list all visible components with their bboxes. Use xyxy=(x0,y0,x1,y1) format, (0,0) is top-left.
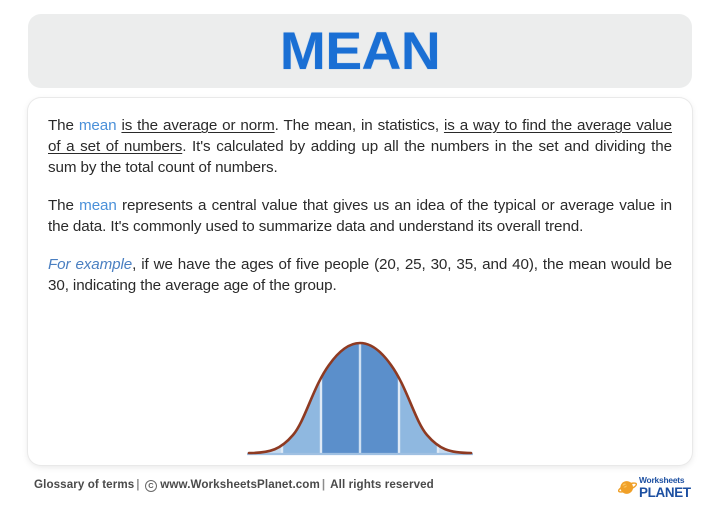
paragraph-example: For example, if we have the ages of five… xyxy=(48,254,672,296)
text-segment: The xyxy=(48,117,79,134)
example-label: For example xyxy=(48,256,132,273)
logo-bottom-word: PLANET xyxy=(639,486,691,499)
underlined-definition-a: is the average or norm xyxy=(121,117,274,134)
title-band: MEAN xyxy=(28,14,692,88)
bell-curve-figure xyxy=(28,335,692,459)
band-core-left xyxy=(321,335,360,459)
band-outer-left xyxy=(245,335,282,459)
logo-top-word: Worksheets xyxy=(639,476,691,484)
worksheets-planet-logo[interactable]: Worksheets PLANET xyxy=(618,474,704,501)
planet-icon xyxy=(618,478,637,497)
text-segment: The xyxy=(48,197,79,214)
paragraph-definition: The mean is the average or norm. The mea… xyxy=(48,115,672,178)
footer-website: www.WorksheetsPlanet.com xyxy=(160,478,320,491)
footer-separator: | xyxy=(134,478,141,491)
keyword-mean: mean xyxy=(79,117,117,134)
footer-rights: All rights reserved xyxy=(330,478,434,491)
band-core-right xyxy=(360,335,399,459)
text-segment: , if we have the ages of five people (20… xyxy=(48,256,672,294)
page-title: MEAN xyxy=(280,25,440,78)
text-segment: represents a central value that gives us… xyxy=(48,197,672,235)
footer-attribution: Glossary of terms| C www.WorksheetsPlane… xyxy=(34,478,434,492)
band-outer-right xyxy=(438,335,475,459)
text-segment: . The mean, in statistics, xyxy=(275,117,444,134)
footer-separator: | xyxy=(320,478,327,491)
copyright-icon: C xyxy=(145,480,157,492)
paragraph-explanation: The mean represents a central value that… xyxy=(48,195,672,237)
logo-wordmark: Worksheets PLANET xyxy=(639,476,691,499)
footer-glossary-label: Glossary of terms xyxy=(34,478,134,491)
definition-card: The mean is the average or norm. The mea… xyxy=(28,98,692,465)
bell-curve-chart xyxy=(245,335,475,459)
worksheet-page: MEAN The mean is the average or norm. Th… xyxy=(0,0,720,509)
keyword-mean: mean xyxy=(79,197,117,214)
